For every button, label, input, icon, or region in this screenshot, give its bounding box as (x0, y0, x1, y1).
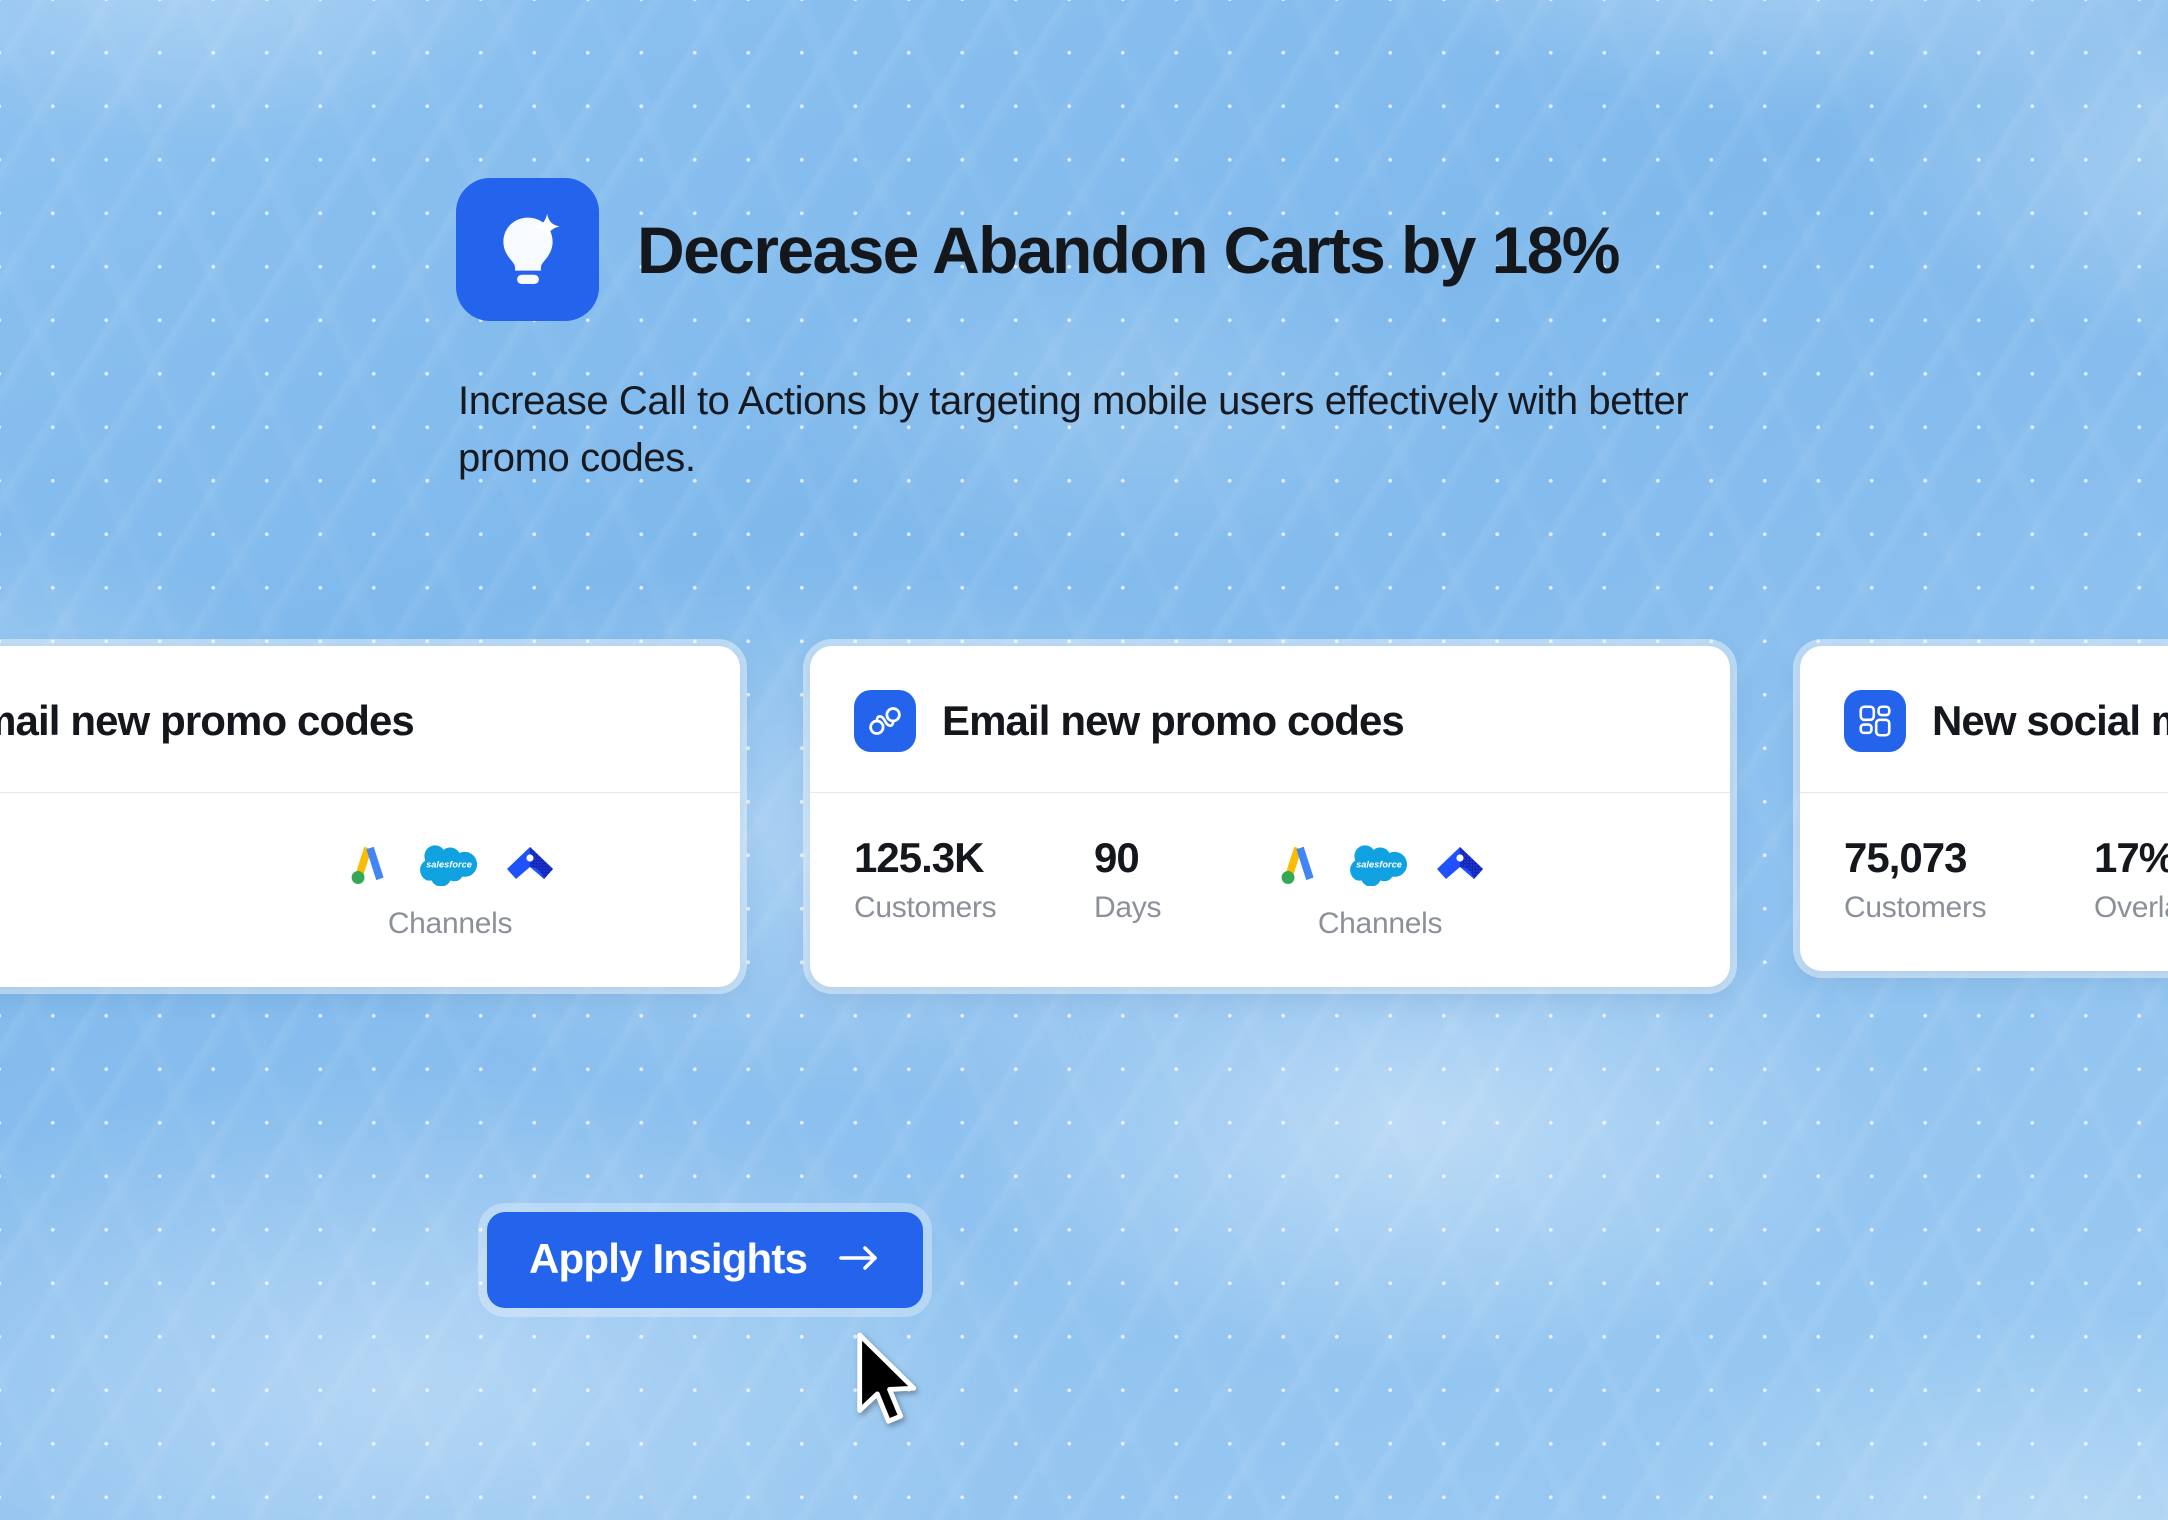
salesforce-logo: salesforce (1350, 844, 1408, 886)
stat-item-overlap: 17% Overlap (2094, 837, 2168, 923)
google-ads-logo (1274, 840, 1324, 890)
channels-block: salesforce (344, 837, 556, 939)
insight-card-email-promo[interactable]: Email new promo codes 125.3K Customers 9… (810, 646, 1730, 987)
amplitude-logo (504, 843, 556, 887)
stat-item (0, 837, 164, 923)
lightbulb-sparkle-icon (456, 178, 599, 321)
svg-text:salesforce: salesforce (1356, 859, 1402, 869)
insight-header-row: Decrease Abandon Carts by 18% (456, 178, 1856, 321)
stat-label: Days (1094, 893, 1274, 923)
dashboard-grid-icon (1844, 690, 1906, 752)
insight-card-social-followers[interactable]: New social media followers 75,073 Custom… (1800, 646, 2168, 971)
stat-value: 17% (2094, 837, 2168, 879)
arrow-right-icon (837, 1241, 883, 1278)
insight-overlay-screen: Decrease Abandon Carts by 18% Increase C… (0, 0, 2168, 1520)
card-title: Email new promo codes (0, 700, 414, 742)
link-nodes-icon (854, 690, 916, 752)
card-stats: 75,073 Customers 17% Overlap (1800, 793, 2168, 971)
channel-logos: salesforce (1274, 837, 1486, 893)
stat-item-customers: 75,073 Customers (1844, 837, 2094, 923)
card-stats: 125.3K Customers 90 Days (810, 793, 1730, 987)
stat-value (0, 837, 164, 879)
stat-label: Customers (854, 893, 1094, 923)
apply-insights-label: Apply Insights (529, 1238, 807, 1280)
stat-item-customers: 125.3K Customers (854, 837, 1094, 923)
stat-label (164, 893, 344, 923)
amplitude-logo (1434, 843, 1486, 887)
stat-value: 125.3K (854, 837, 1094, 879)
channels-label: Channels (388, 909, 512, 939)
salesforce-logo: salesforce (420, 844, 478, 886)
insight-card[interactable]: Email new promo codes (0, 646, 740, 987)
card-stats: salesforce (0, 793, 740, 987)
insight-header: Decrease Abandon Carts by 18% Increase C… (456, 178, 1856, 487)
card-title: Email new promo codes (942, 700, 1404, 742)
stat-label: Overlap (2094, 893, 2168, 923)
stat-value (164, 837, 344, 879)
cta-wrapper: Apply Insights (487, 1212, 923, 1308)
insight-card-row: Email new promo codes (0, 646, 2168, 987)
stat-label (0, 893, 164, 923)
card-header: New social media followers (1800, 646, 2168, 792)
channels-label: Channels (1318, 909, 1442, 939)
stat-item-days: 90 Days (1094, 837, 1274, 923)
stat-value: 75,073 (1844, 837, 2094, 879)
card-header: Email new promo codes (0, 646, 740, 792)
card-header: Email new promo codes (810, 646, 1730, 792)
page-title: Decrease Abandon Carts by 18% (637, 217, 1619, 283)
stat-label: Customers (1844, 893, 2094, 923)
stat-value: 90 (1094, 837, 1274, 879)
card-title: New social media followers (1932, 700, 2168, 742)
channels-block: salesforce (1274, 837, 1486, 939)
svg-text:salesforce: salesforce (426, 859, 472, 869)
page-subtitle: Increase Call to Actions by targeting mo… (458, 373, 1698, 487)
google-ads-logo (344, 840, 394, 890)
apply-insights-button[interactable]: Apply Insights (487, 1212, 923, 1308)
stat-item (164, 837, 344, 923)
channel-logos: salesforce (344, 837, 556, 893)
